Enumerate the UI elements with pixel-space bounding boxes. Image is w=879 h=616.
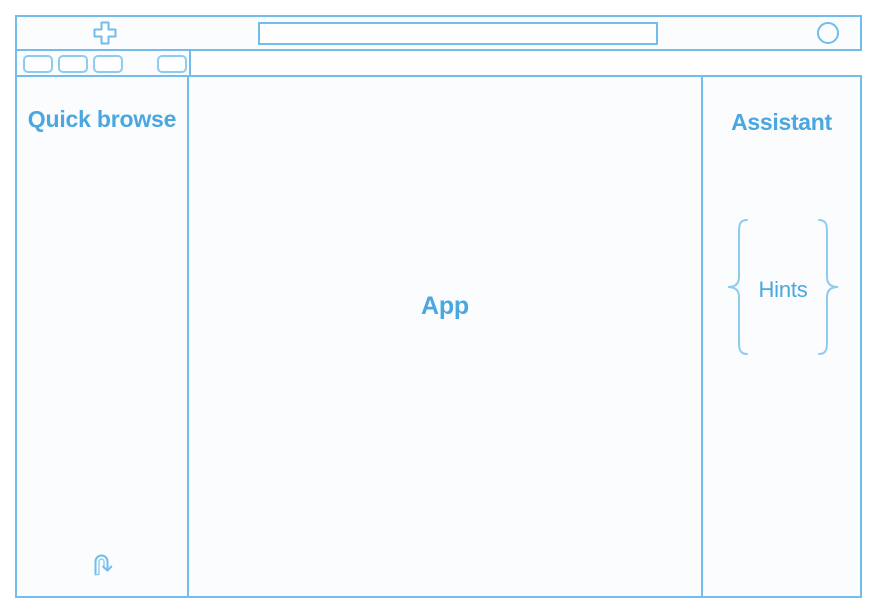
app-main-panel: App xyxy=(189,77,703,596)
tab-strip xyxy=(15,49,191,77)
right-brace-icon xyxy=(815,217,841,362)
quick-browse-sidebar: Quick browse xyxy=(17,77,189,596)
address-bar-input[interactable] xyxy=(258,22,658,45)
assistant-panel: Assistant Hints xyxy=(703,77,860,596)
u-turn-arrow-icon[interactable] xyxy=(17,549,187,579)
circle-avatar-icon[interactable] xyxy=(817,22,839,44)
wireframe-canvas: Quick browse App Assistant xyxy=(15,15,862,598)
new-tab-button[interactable] xyxy=(17,17,193,49)
plus-icon xyxy=(91,19,119,47)
assistant-title: Assistant xyxy=(703,109,860,136)
browser-chrome-bar xyxy=(15,15,862,51)
workspace-body: Quick browse App Assistant xyxy=(15,75,862,598)
page-title: App xyxy=(421,292,469,321)
tab-item-1[interactable] xyxy=(23,55,53,73)
left-brace-icon xyxy=(725,217,751,362)
tab-item-2[interactable] xyxy=(58,55,88,73)
tab-item-3[interactable] xyxy=(93,55,123,73)
sidebar-title: Quick browse xyxy=(17,105,187,134)
hints-group: Hints xyxy=(715,217,851,362)
hints-label: Hints xyxy=(751,277,814,303)
tab-item-4[interactable] xyxy=(157,55,187,73)
